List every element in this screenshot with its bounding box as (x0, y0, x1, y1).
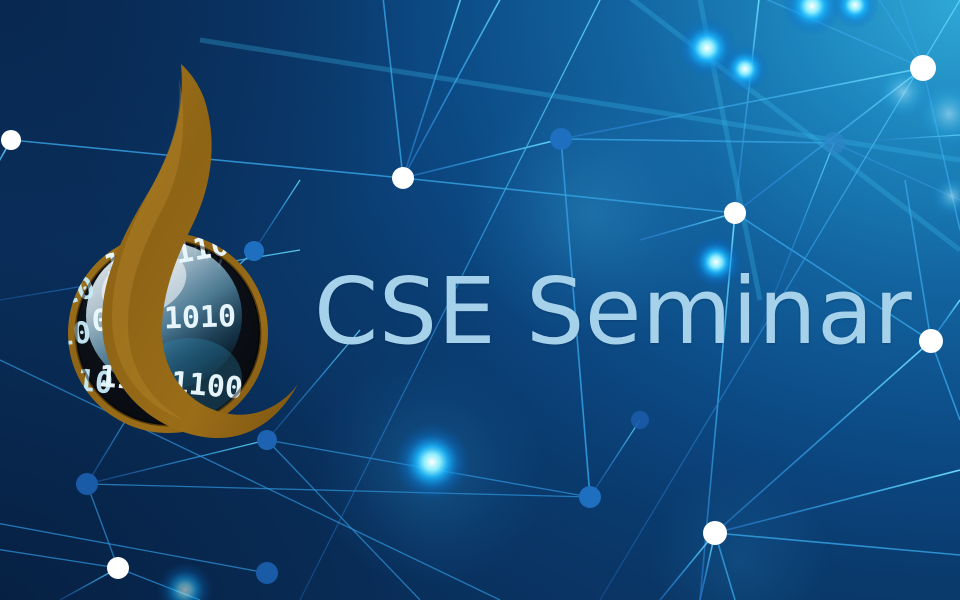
cse-seminar-banner: 1 10 10 010 010. 01010 1010110 00101010 … (0, 0, 960, 600)
svg-text:1: 1 (67, 236, 98, 275)
page-title: CSE Seminar (314, 266, 912, 358)
cse-flame-binary-logo: 1 10 10 010 010. 01010 1010110 00101010 … (40, 48, 320, 448)
svg-text:10: 10 (53, 315, 93, 354)
svg-text:01010: 01010 (94, 440, 191, 448)
